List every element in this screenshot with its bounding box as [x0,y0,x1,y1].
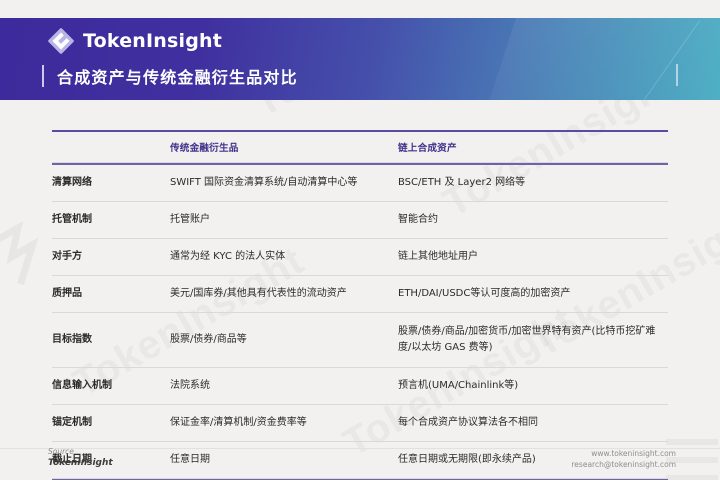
top-margin-strip [0,0,720,18]
table-row: 信息输入机制 法院系统 预言机(UMA/Chainlink等) [52,368,668,405]
header-sheen [466,18,720,100]
table-row: 质押品 美元/国库券/其他具有代表性的流动资产 ETH/DAI/USDC等认可度… [52,276,668,313]
watermark-logo-icon [0,200,56,310]
row-synthetic-value: ETH/DAI/USDC等认可度高的加密资产 [398,286,668,302]
table-row: 目标指数 股票/债券/商品等 股票/债券/商品/加密货币/加密世界特有资产(比特… [52,313,668,368]
slide-header: TokenInsight 合成资产与传统金融衍生品对比 [0,18,720,100]
row-traditional-value: 任意日期 [170,452,398,468]
row-label: 清算网络 [52,175,170,191]
row-synthetic-value: 预言机(UMA/Chainlink等) [398,378,668,394]
row-traditional-value: 保证金率/清算机制/资金费率等 [170,415,398,431]
slide-canvas: TokenInsight TokenInsight TokenInsight T… [0,0,720,480]
email-link[interactable]: research@tokeninsight.com [571,459,676,470]
row-traditional-value: 通常为经 KYC 的法人实体 [170,249,398,265]
row-traditional-value: 托管账户 [170,212,398,228]
table-row: 对手方 通常为经 KYC 的法人实体 链上其他地址用户 [52,239,668,276]
row-label: 信息输入机制 [52,378,170,394]
column-header-traditional: 传统金融衍生品 [170,140,398,154]
row-traditional-value: 法院系统 [170,378,398,394]
table-row: 托管机制 托管账户 智能合约 [52,202,668,239]
source-label: Source [48,447,113,457]
row-traditional-value: 股票/债券/商品等 [170,332,398,348]
source-block: Source TokenInsight [48,447,113,469]
row-synthetic-value: 每个合成资产协议算法各不相同 [398,415,668,431]
title-accent-bar [42,65,44,87]
comparison-table: 传统金融衍生品 链上合成资产 清算网络 SWIFT 国际资金清算系统/自动清算中… [52,130,668,480]
page-title: 合成资产与传统金融衍生品对比 [57,64,298,88]
row-traditional-value: SWIFT 国际资金清算系统/自动清算中心等 [170,175,398,191]
row-label: 目标指数 [52,332,170,348]
source-name: TokenInsight [48,457,113,469]
table-row: 清算网络 SWIFT 国际资金清算系统/自动清算中心等 BSC/ETH 及 La… [52,165,668,202]
brand-logo: TokenInsight [48,28,222,54]
contact-block: www.tokeninsight.com research@tokeninsig… [571,448,676,471]
row-synthetic-value: 智能合约 [398,212,668,228]
row-traditional-value: 美元/国库券/其他具有代表性的流动资产 [170,286,398,302]
row-label: 托管机制 [52,212,170,228]
row-label: 对手方 [52,249,170,265]
page-title-row: 合成资产与传统金融衍生品对比 [42,64,298,88]
row-synthetic-value: BSC/ETH 及 Layer2 网络等 [398,175,668,191]
row-synthetic-value: 链上其他地址用户 [398,249,668,265]
header-tick-bar [676,64,678,86]
brand-name: TokenInsight [83,30,222,52]
table-row: 锚定机制 保证金率/清算机制/资金费率等 每个合成资产协议算法各不相同 [52,405,668,442]
row-label: 质押品 [52,286,170,302]
column-header-synthetic: 链上合成资产 [398,140,668,154]
row-synthetic-value: 股票/债券/商品/加密货币/加密世界特有资产(比特币挖矿难度/以太坊 GAS 费… [398,324,668,355]
row-label: 锚定机制 [52,415,170,431]
tokeninsight-diamond-logo-icon [48,28,74,54]
table-header-row: 传统金融衍生品 链上合成资产 [52,132,668,163]
website-link[interactable]: www.tokeninsight.com [571,448,676,459]
